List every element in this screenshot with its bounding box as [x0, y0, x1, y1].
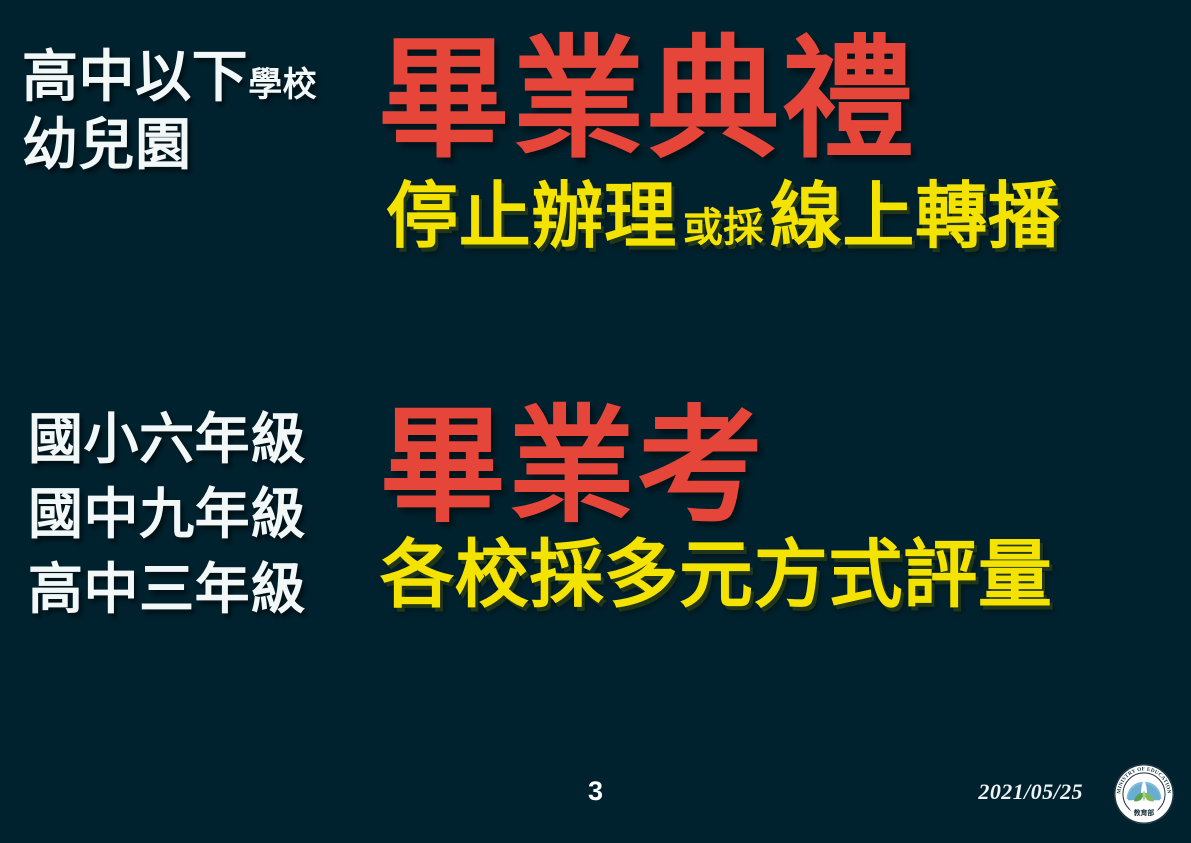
audience-label-main: 高中以下 [22, 50, 248, 106]
headline-graduation-ceremony: 畢業典禮 [378, 34, 1188, 166]
ministry-of-education-logo-icon: MINISTRY OF EDUCATION 教育部 [1113, 763, 1175, 825]
audience-label-junior-grade9: 國中九年級 [28, 487, 388, 542]
announcement-block-graduation-exam: 國小六年級 國中九年級 高中三年級 畢業考 各校採多元方式評量 [0, 404, 1191, 694]
slide-date: 2021/05/25 [978, 779, 1083, 805]
subline-graduation-ceremony: 停止辦理 或採 線上轉播 [378, 180, 1188, 252]
audience-label-suffix: 學校 [248, 68, 317, 102]
block-two-audience-column: 國小六年級 國中九年級 高中三年級 [28, 412, 388, 637]
announcement-block-graduation-ceremony: 高中以下 學校 幼兒園 畢業典禮 停止辦理 或採 線上轉播 [0, 34, 1191, 324]
slide-canvas: 高中以下 學校 幼兒園 畢業典禮 停止辦理 或採 線上轉播 國小六年級 國中九年… [0, 0, 1191, 843]
subline-connector-or-adopt: 或採 [677, 208, 770, 248]
audience-row-secondary-and-below: 高中以下 學校 [22, 50, 372, 106]
block-one-audience-column: 高中以下 學校 幼兒園 [22, 50, 372, 186]
subline-multiple-assessment-methods: 各校採多元方式評量 [380, 538, 1190, 612]
subline-part-livestream: 線上轉播 [770, 180, 1061, 252]
slide-footer: 3 2021/05/25 [0, 743, 1191, 843]
block-two-message-column: 畢業考 各校採多元方式評量 [380, 404, 1190, 612]
block-one-message-column: 畢業典禮 停止辦理 或採 線上轉播 [378, 34, 1188, 252]
logo-inner-text: 教育部 [1133, 808, 1155, 817]
audience-label-elementary-grade6: 國小六年級 [28, 412, 388, 467]
audience-label-senior-grade3: 高中三年級 [28, 562, 388, 617]
headline-graduation-exam: 畢業考 [380, 404, 1190, 530]
audience-row-kindergarten: 幼兒園 [22, 118, 372, 174]
subline-part-suspend: 停止辦理 [386, 180, 677, 252]
audience-label-kindergarten: 幼兒園 [22, 118, 192, 174]
